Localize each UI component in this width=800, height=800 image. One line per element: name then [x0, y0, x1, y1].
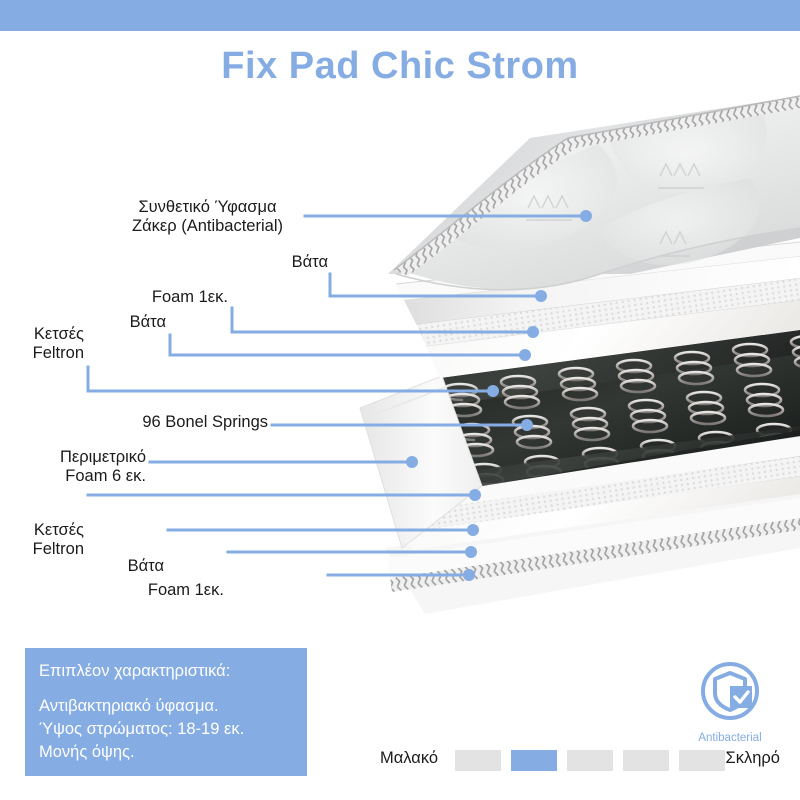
mattress-cutaway-illustration	[330, 78, 800, 618]
firmness-soft-label: Μαλακό	[380, 749, 438, 768]
firmness-segment-1[interactable]	[455, 750, 501, 771]
firmness-segment-2[interactable]	[511, 750, 557, 771]
callout-label-wadding-3: Βάτα	[78, 557, 164, 576]
features-heading: Επιπλέον χαρακτηριστικά:	[39, 662, 307, 681]
badge-caption: Antibacterial	[686, 732, 774, 744]
product-infographic: Fix Pad Chic Strom	[0, 0, 800, 800]
callout-label-perimeter-foam: Περιμετρικό Foam 6 εκ.	[0, 448, 146, 487]
firmness-segments	[455, 750, 725, 771]
callout-label-wadding-1: Βάτα	[240, 253, 328, 272]
callout-label-feltron-bottom: Κετσές Feltron	[0, 521, 84, 560]
shield-check-icon	[697, 660, 763, 726]
top-accent-bar	[0, 0, 800, 31]
callout-label-cover: Συνθετικό Ύφασμα Ζάκερ (Antibacterial)	[115, 198, 300, 237]
firmness-segment-4[interactable]	[623, 750, 669, 771]
antibacterial-badge: Antibacterial	[686, 660, 774, 744]
features-line-1: Αντιβακτηριακό ύφασμα.	[39, 695, 307, 718]
callout-label-foam-1-bottom: Foam 1εκ.	[96, 581, 224, 600]
features-line-3: Μονής όψης.	[39, 741, 307, 764]
features-line-2: Ύψος στρώματος: 18-19 εκ.	[39, 718, 307, 741]
firmness-hard-label: Σκληρό	[726, 749, 780, 768]
additional-features-box: Επιπλέον χαρακτηριστικά: Αντιβακτηριακό …	[25, 648, 307, 776]
firmness-scale: Μαλακό Σκληρό	[380, 746, 780, 772]
firmness-segment-3[interactable]	[567, 750, 613, 771]
callout-label-springs: 96 Bonel Springs	[100, 413, 268, 432]
callout-label-feltron-top: Κετσές Feltron	[0, 325, 84, 364]
firmness-segment-5[interactable]	[679, 750, 725, 771]
callout-label-wadding-2: Βάτα	[80, 313, 166, 332]
callout-label-foam-1-top: Foam 1εκ.	[100, 288, 228, 307]
